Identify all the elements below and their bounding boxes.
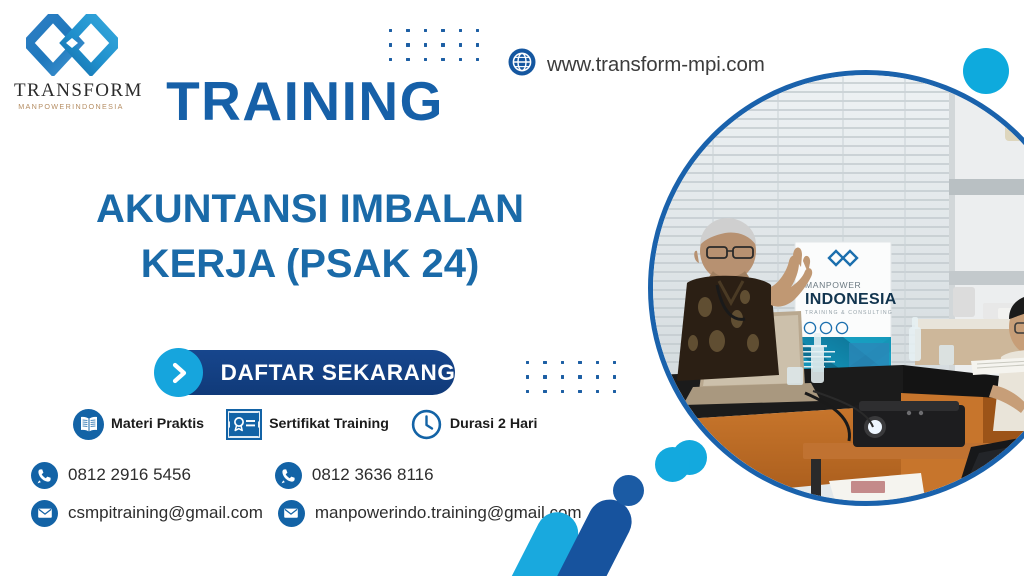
training-session-photo: MANPOWER INDONESIA TRAINING & CONSULTING… <box>648 70 1024 506</box>
email-address: csmpitraining@gmail.com <box>68 503 263 523</box>
contact-phone-2[interactable]: 0812 3636 8116 <box>275 462 434 489</box>
feature-label: Sertifikat Training <box>269 416 389 432</box>
decorative-dot-grid-middle <box>526 361 616 393</box>
transform-diamond-logo-icon <box>26 14 118 76</box>
page-title: AKUNTANSI IMBALAN KERJA (PSAK 24) <box>10 182 610 292</box>
contact-email-1[interactable]: csmpitraining@gmail.com <box>31 500 263 527</box>
eyebrow-heading: TRAINING <box>0 74 610 129</box>
phone-row: 0812 2916 5456 0812 3636 8116 <box>31 456 631 494</box>
contact-email-2[interactable]: manpowerindo.training@gmail.com <box>278 500 582 527</box>
envelope-icon <box>31 500 58 527</box>
decorative-circle-cyan-small <box>655 447 690 482</box>
decorative-dot-navy <box>613 475 644 506</box>
svg-text:INDONESIA: INDONESIA <box>805 291 897 308</box>
decorative-circle-cyan <box>963 48 1009 94</box>
register-button-label: DAFTAR SEKARANG <box>233 350 443 395</box>
chevron-right-icon <box>154 348 203 397</box>
whatsapp-phone-icon <box>275 462 302 489</box>
promo-poster: TRANSFORM MANPOWERINDONESIA www.transfor… <box>0 0 1024 576</box>
page-title-line2: KERJA (PSAK 24) <box>10 237 610 292</box>
feature-item-sertifikat-training: Sertifikat Training <box>226 409 389 440</box>
feature-label: Durasi 2 Hari <box>450 416 538 432</box>
clock-icon <box>411 408 443 440</box>
contact-phone-1[interactable]: 0812 2916 5456 <box>31 462 191 489</box>
open-book-icon <box>73 409 104 440</box>
certificate-icon <box>226 409 262 440</box>
feature-list: Materi Praktis Sertifikat Training <box>73 408 537 440</box>
whatsapp-phone-icon <box>31 462 58 489</box>
website-url: www.transform-mpi.com <box>547 53 765 77</box>
feature-item-durasi: Durasi 2 Hari <box>411 408 538 440</box>
register-button[interactable]: DAFTAR SEKARANG <box>161 350 455 395</box>
page-title-line1: AKUNTANSI IMBALAN <box>10 182 610 237</box>
envelope-icon <box>278 500 305 527</box>
phone-number: 0812 2916 5456 <box>68 465 191 485</box>
phone-number: 0812 3636 8116 <box>312 465 434 485</box>
feature-label: Materi Praktis <box>111 416 204 432</box>
decorative-dot-grid-top <box>389 29 479 61</box>
svg-text:MANPOWER: MANPOWER <box>805 280 861 290</box>
feature-item-materi-praktis: Materi Praktis <box>73 409 204 440</box>
svg-text:TRAINING & CONSULTING: TRAINING & CONSULTING <box>805 310 893 316</box>
